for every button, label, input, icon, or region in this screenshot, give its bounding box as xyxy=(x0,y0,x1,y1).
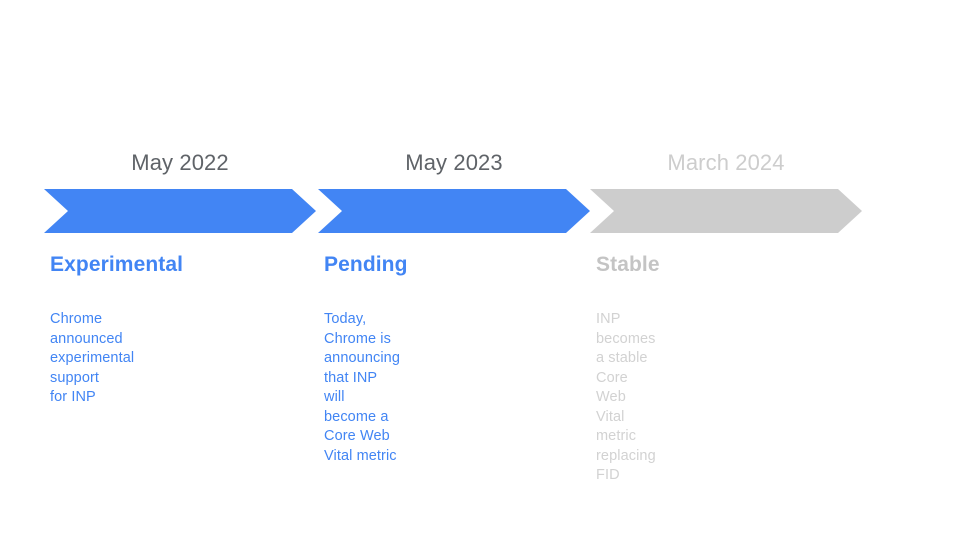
timeline-segment-title: Pending xyxy=(324,252,408,278)
timeline-diagram: May 2022 Experimental Chrome announced e… xyxy=(0,0,960,540)
chevron-arrow-experimental xyxy=(44,189,316,233)
timeline-date-label: May 2022 xyxy=(44,148,316,178)
chevron-shape-icon xyxy=(318,189,590,233)
timeline-date-label: March 2024 xyxy=(590,148,862,178)
chevron-shape-icon xyxy=(590,189,862,233)
timeline-segment-title: Stable xyxy=(596,252,660,278)
timeline-segment-body: Chrome announced experimental support fo… xyxy=(50,310,134,408)
chevron-arrow-stable xyxy=(590,189,862,233)
timeline-segment-title: Experimental xyxy=(50,252,183,278)
timeline-segment-body: Today, Chrome is announcing that INP wil… xyxy=(324,310,400,466)
timeline-date-label: May 2023 xyxy=(318,148,590,178)
chevron-shape-icon xyxy=(44,189,316,233)
timeline-segment-body: INP becomes a stable Core Web Vital metr… xyxy=(596,310,656,486)
chevron-arrow-pending xyxy=(318,189,590,233)
